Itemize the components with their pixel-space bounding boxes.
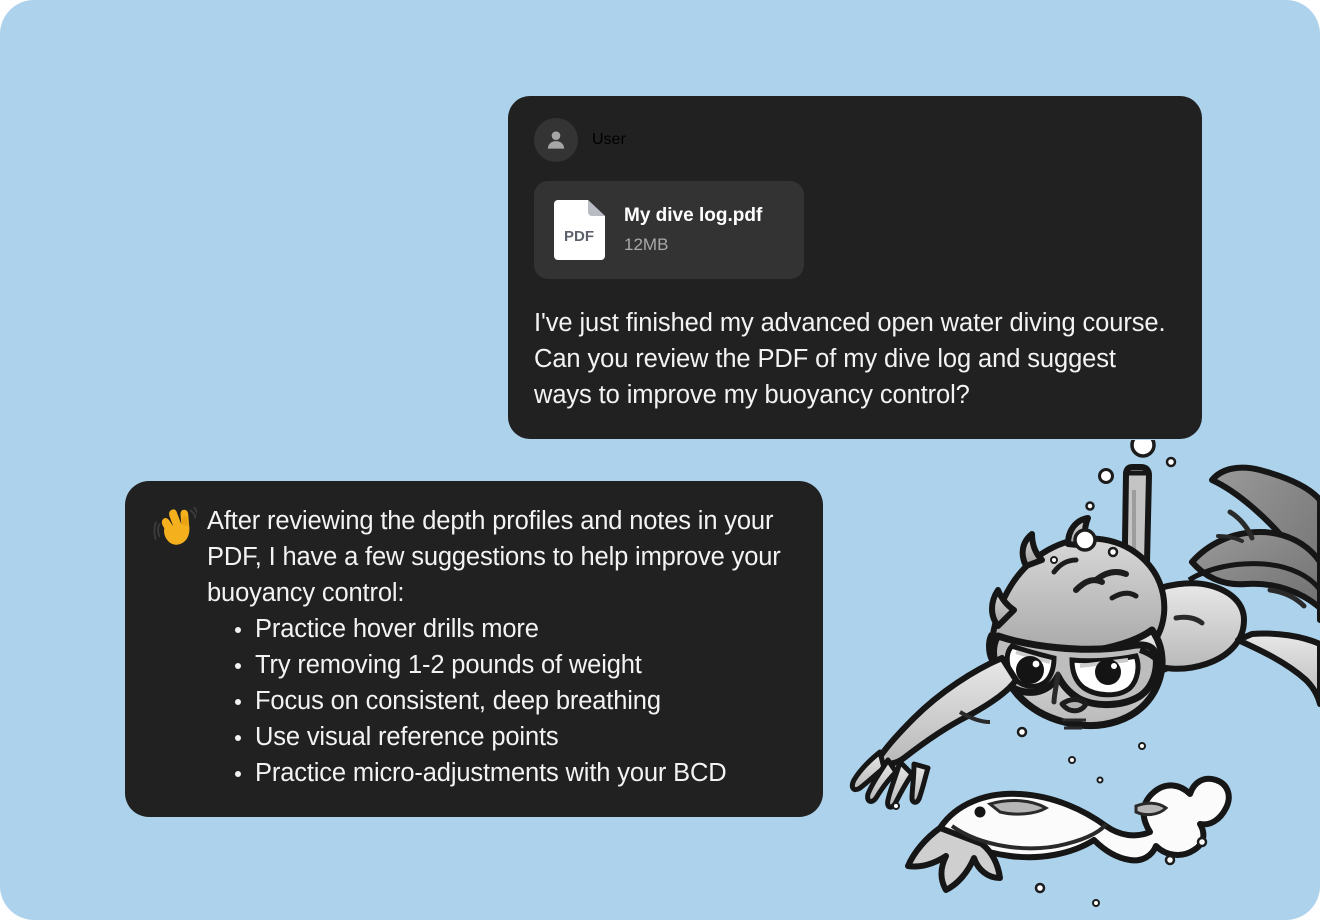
attachment-file-name: My dive log.pdf xyxy=(624,205,762,228)
user-message-text: I've just finished my advanced open wate… xyxy=(534,305,1176,413)
sender-name: User xyxy=(592,131,626,149)
diver-torso xyxy=(1129,583,1320,704)
assistant-message-bubble: After reviewing the depth profiles and n… xyxy=(125,481,823,817)
waving-hand-emoji xyxy=(153,505,197,549)
snorkeler-underwater-illustration xyxy=(840,440,1320,920)
assistant-intro-text: After reviewing the depth profiles and n… xyxy=(207,503,795,611)
list-item: Focus on consistent, deep breathing xyxy=(231,683,795,719)
user-header: User xyxy=(534,118,1176,162)
avatar xyxy=(534,118,578,162)
pdf-file-icon: PDF xyxy=(552,197,608,263)
snorkel-icon xyxy=(1124,467,1171,653)
assistant-intro-row: After reviewing the depth profiles and n… xyxy=(153,503,795,611)
list-item: Practice micro-adjustments with your BCD xyxy=(231,755,795,791)
screenshot-canvas: User PDF My dive log.pdf 12MB I've just … xyxy=(0,0,1320,920)
dive-mask-icon xyxy=(994,636,1157,705)
fish-icon xyxy=(908,779,1229,890)
list-item: Practice hover drills more xyxy=(231,611,795,647)
diver-left-arm xyxy=(852,658,1016,807)
bubbles-icon xyxy=(893,440,1206,906)
attachment-card[interactable]: PDF My dive log.pdf 12MB xyxy=(534,181,804,279)
diver-head xyxy=(989,518,1166,728)
list-item: Use visual reference points xyxy=(231,719,795,755)
assistant-suggestions-list: Practice hover drills more Try removing … xyxy=(153,611,795,791)
user-message-bubble: User PDF My dive log.pdf 12MB I've just … xyxy=(508,96,1202,439)
attachment-meta: My dive log.pdf 12MB xyxy=(624,205,762,255)
diver-wetsuit-arm xyxy=(1189,468,1320,620)
list-item: Try removing 1-2 pounds of weight xyxy=(231,647,795,683)
attachment-file-size: 12MB xyxy=(624,235,762,255)
person-icon xyxy=(543,127,569,153)
pdf-label: PDF xyxy=(564,228,594,245)
